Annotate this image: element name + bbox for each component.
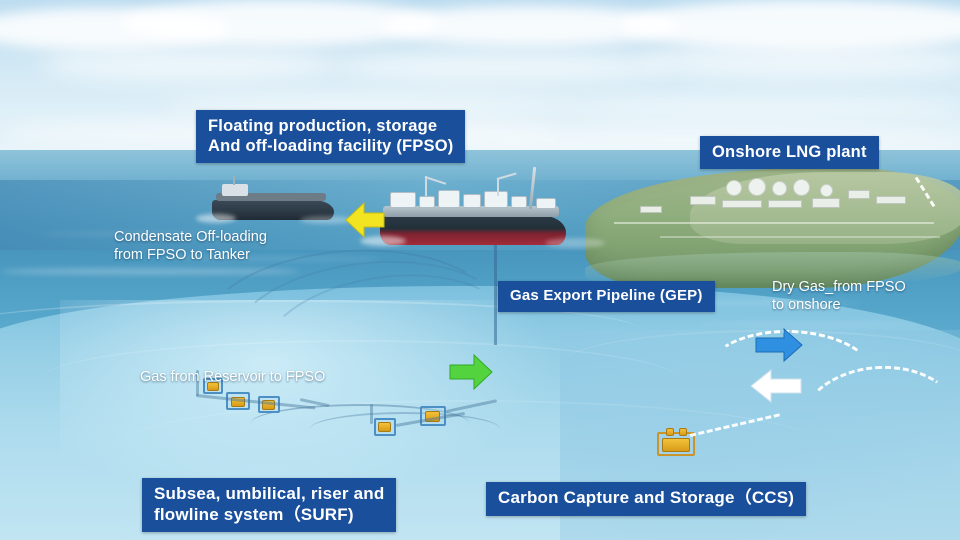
plant-road: [614, 222, 934, 224]
plant-building: [640, 206, 662, 213]
plant-building: [768, 200, 802, 208]
reservoir-arrow: [446, 352, 494, 392]
label-onshore-lng-plant: Onshore LNG plant: [700, 136, 879, 169]
label-gas-export-pipeline: Gas Export Pipeline (GEP): [498, 281, 715, 312]
cloud: [640, 44, 960, 80]
ccs-arrow: [748, 366, 804, 406]
condensate-arrow: [344, 200, 386, 240]
label-surf: Subsea, umbilical, riser and flowline sy…: [142, 478, 396, 532]
flowline: [310, 412, 500, 446]
plant-building: [722, 200, 762, 208]
plant-building: [848, 190, 870, 199]
plant-building: [876, 196, 906, 204]
plant-road: [660, 236, 940, 238]
plant-building: [690, 196, 716, 205]
cloud: [330, 52, 670, 82]
label-condensate-offloading: Condensate Off-loading from FPSO to Tank…: [114, 228, 267, 264]
lng-storage-tank: [748, 178, 766, 196]
cloud: [430, 128, 960, 152]
plant-building: [812, 198, 840, 208]
diagram-canvas: Floating production, storage And off-loa…: [0, 0, 960, 540]
label-fpso: Floating production, storage And off-loa…: [196, 110, 465, 163]
cloud: [560, 96, 960, 118]
dry-gas-arrow: [752, 326, 804, 364]
lng-storage-tank: [772, 181, 787, 196]
seabed-contour: [120, 400, 820, 490]
label-gas-from-reservoir: Gas from Reservoir to FPSO: [140, 368, 325, 386]
label-ccs: Carbon Capture and Storage（CCS): [486, 482, 806, 516]
lng-storage-tank: [820, 184, 833, 197]
lng-storage-tank: [726, 180, 742, 196]
label-dry-gas: Dry Gas_from FPSO to onshore: [772, 278, 906, 314]
lng-storage-tank: [793, 179, 810, 196]
riser: [494, 245, 497, 345]
cloud: [40, 48, 340, 82]
